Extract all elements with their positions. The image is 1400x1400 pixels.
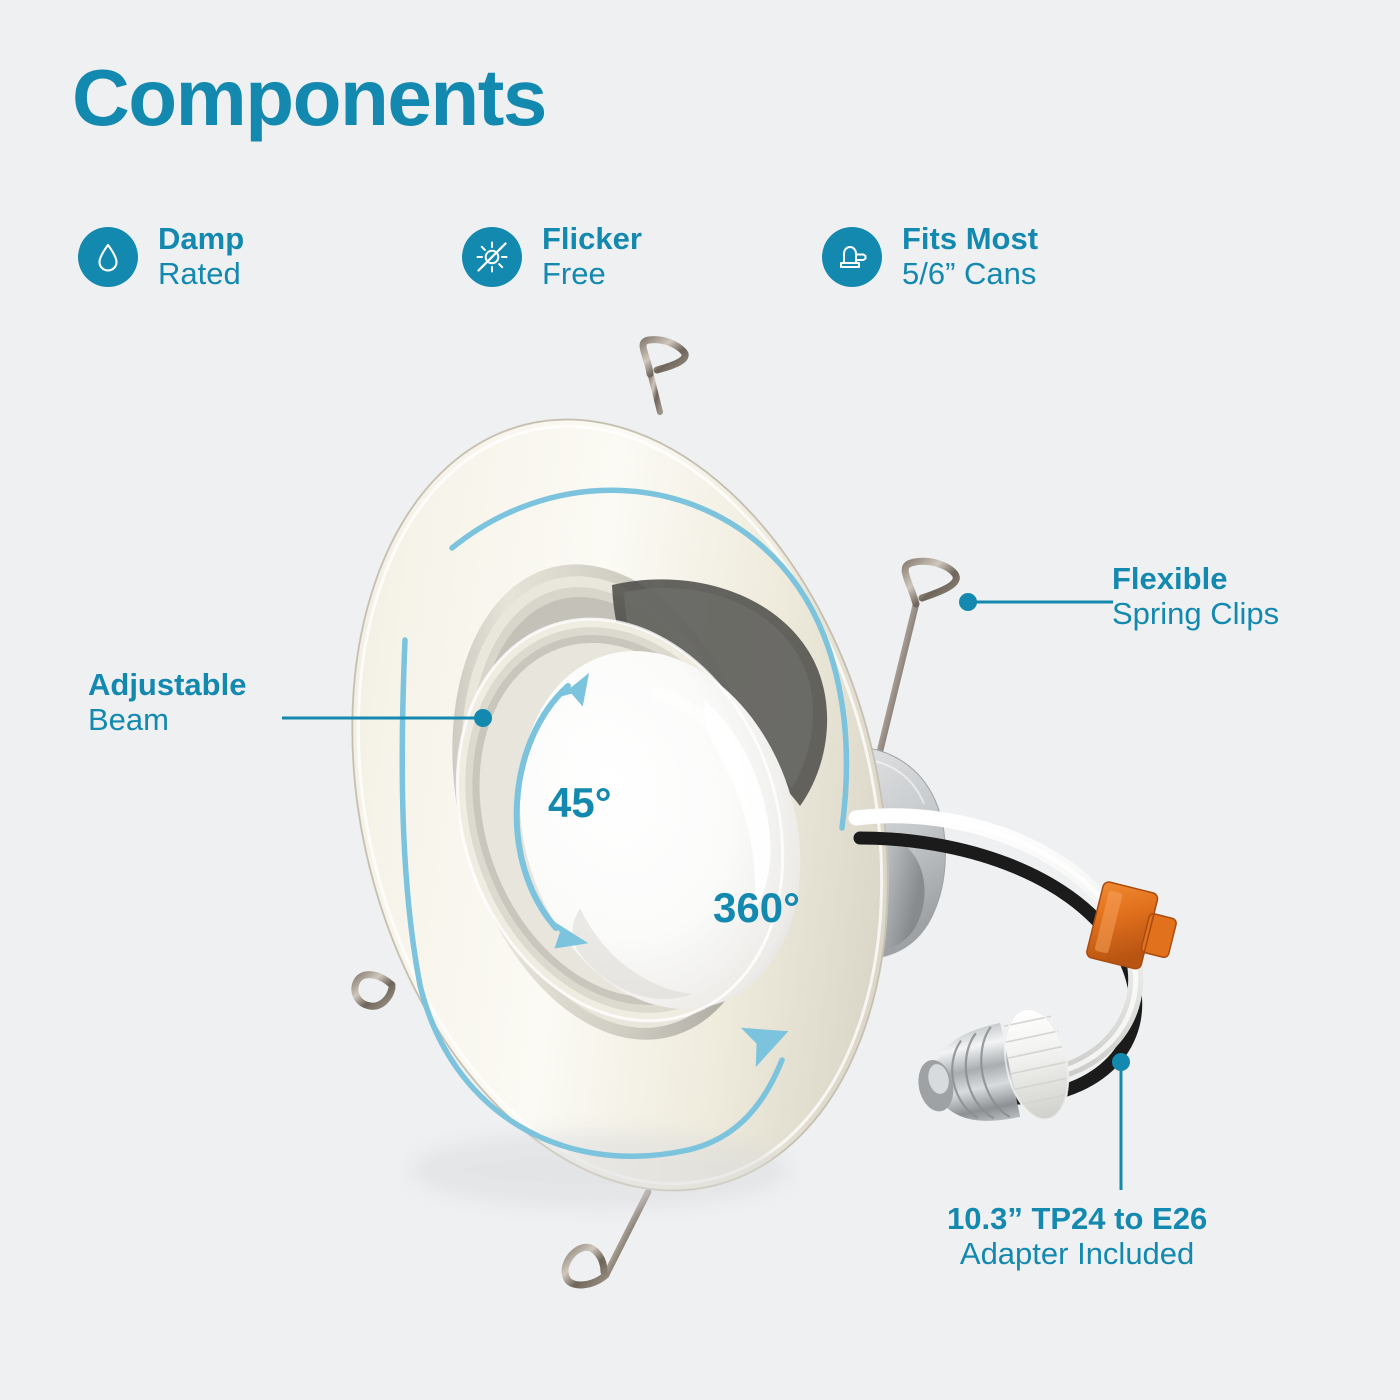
feature-badge-flicker-free-text: Flicker Free: [542, 222, 642, 291]
leader-line-flexible-spring-clips: [955, 584, 1115, 624]
driver-housing: [830, 747, 945, 958]
callout-line2: Spring Clips: [1112, 597, 1279, 632]
spring-clip-top: [643, 340, 685, 412]
spring-clip-right: [868, 561, 956, 800]
badge-line1: Fits Most: [902, 222, 1038, 257]
tp24-connector: [1086, 881, 1182, 976]
tilt-angle-label: 45°: [548, 779, 612, 827]
feature-badge-damp-rated-text: Damp Rated: [158, 222, 244, 291]
leader-line-adjustable-beam: [280, 700, 500, 740]
callout-adjustable-beam: Adjustable Beam: [88, 668, 246, 737]
infographic-root: Components Damp Rated: [0, 0, 1400, 1400]
badge-line2: 5/6” Cans: [902, 257, 1038, 292]
rotation-arc-arrowhead: [741, 1014, 796, 1068]
feature-badge-fits-most-cans-text: Fits Most 5/6” Cans: [902, 222, 1038, 291]
callout-flexible-spring-clips: Flexible Spring Clips: [1112, 562, 1279, 631]
callout-line1: Flexible: [1112, 562, 1279, 597]
leader-line-tp24-adapter: [1100, 1050, 1144, 1200]
feature-badge-damp-rated: Damp Rated: [78, 222, 244, 291]
badge-line1: Damp: [158, 222, 244, 257]
callout-line2: Beam: [88, 703, 246, 738]
feature-badge-flicker-free: Flicker Free: [462, 222, 642, 291]
callout-tp24-adapter: 10.3” TP24 to E26 Adapter Included: [947, 1202, 1207, 1271]
badge-line2: Rated: [158, 257, 244, 292]
gimbal-lens-module: [403, 573, 845, 1067]
spring-clip-bottom: [565, 1192, 648, 1285]
e26-base: [908, 1003, 1078, 1144]
spring-clip-left: [355, 975, 392, 1007]
page-title: Components: [72, 58, 546, 138]
callout-line1: Adjustable: [88, 668, 246, 703]
rotation-angle-label: 360°: [713, 884, 800, 932]
water-droplet-icon: [78, 227, 138, 287]
trim-ring: [275, 362, 965, 1248]
feature-badge-fits-most-cans: Fits Most 5/6” Cans: [822, 222, 1038, 291]
badge-line2: Free: [542, 257, 642, 292]
no-flicker-sun-icon: [462, 227, 522, 287]
callout-line1: 10.3” TP24 to E26: [947, 1202, 1207, 1237]
rotation-arc-outer: [402, 490, 846, 1156]
badge-line1: Flicker: [542, 222, 642, 257]
callout-line2: Adapter Included: [947, 1237, 1207, 1272]
recessed-can-icon: [822, 227, 882, 287]
